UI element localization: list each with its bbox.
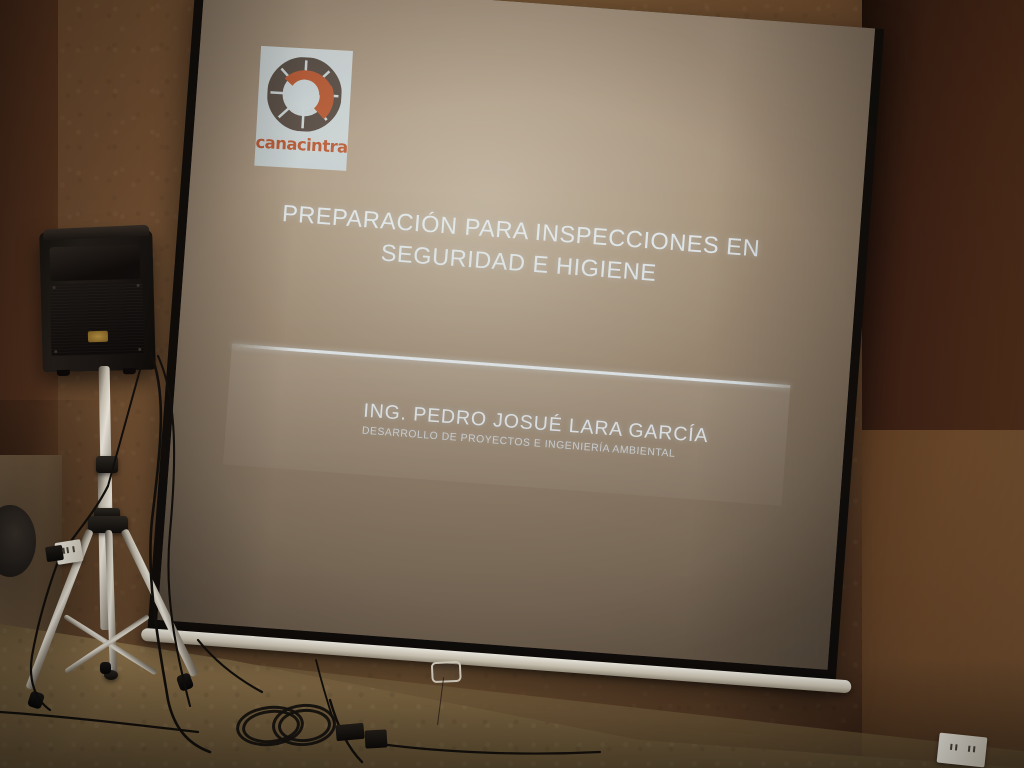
cable-connector-box bbox=[335, 723, 364, 741]
canacintra-gear-logo bbox=[265, 55, 343, 133]
speaker-screw bbox=[53, 286, 56, 289]
room-photo-scene: canacintra PREPARACIÓN PARA INSPECCIONES… bbox=[0, 0, 1024, 768]
slide-title: PREPARACIÓN PARA INSPECCIONES EN SEGURID… bbox=[218, 193, 821, 302]
canacintra-logo: canacintra bbox=[254, 46, 353, 171]
power-plug-left[interactable] bbox=[45, 545, 64, 562]
speaker-horn bbox=[50, 245, 141, 281]
canacintra-wordmark: canacintra bbox=[255, 135, 348, 157]
speaker-screw bbox=[137, 284, 140, 287]
speaker-brand-badge bbox=[88, 331, 108, 343]
speaker-screw bbox=[138, 348, 141, 351]
stand-height-clamp[interactable] bbox=[96, 456, 118, 473]
speaker-foot bbox=[57, 370, 70, 376]
screen-pull-cord[interactable] bbox=[437, 677, 444, 725]
projected-slide: canacintra PREPARACIÓN PARA INSPECCIONES… bbox=[157, 0, 875, 670]
speaker-foot bbox=[123, 368, 136, 374]
screen-pull-ring[interactable] bbox=[431, 661, 462, 683]
cable-connector-plug bbox=[365, 729, 388, 748]
speaker-screw bbox=[54, 350, 57, 353]
pa-speaker bbox=[39, 230, 156, 373]
speaker-grille bbox=[50, 282, 145, 356]
wall-outlet-right[interactable] bbox=[937, 733, 988, 768]
stand-foot-center bbox=[100, 662, 111, 674]
projection-screen[interactable]: canacintra PREPARACIÓN PARA INSPECCIONES… bbox=[140, 0, 894, 768]
